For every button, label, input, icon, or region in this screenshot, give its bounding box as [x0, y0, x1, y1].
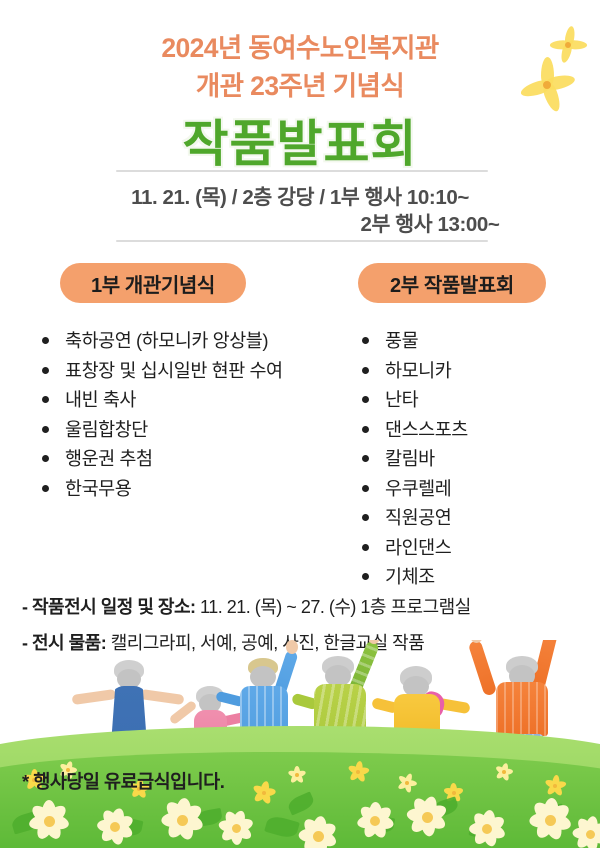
- list-item: 하모니카: [360, 356, 468, 386]
- bullet-icon: [362, 485, 369, 492]
- list-item: 내빈 축사: [40, 385, 283, 415]
- bullet-icon: [362, 573, 369, 580]
- list-item: 울림합창단: [40, 415, 283, 445]
- bullet-icon: [362, 544, 369, 551]
- list-item-label: 칼림바: [385, 448, 435, 469]
- list-item-label: 표창장 및 십시일반 현판 수여: [65, 360, 283, 381]
- list-item: 풍물: [360, 326, 468, 356]
- footnote-text: * 행사당일 유료급식입니다.: [22, 768, 224, 794]
- list-item: 댄스스포츠: [360, 415, 468, 445]
- bullet-icon: [362, 455, 369, 462]
- list-item-label: 풍물: [385, 330, 418, 351]
- list-item: 라인댄스: [360, 533, 468, 563]
- schedule-line-2: 2부 행사 13:00~: [0, 207, 600, 237]
- list-item: 우쿠렐레: [360, 474, 468, 504]
- bullet-icon: [42, 367, 49, 374]
- list-item: 난타: [360, 385, 468, 415]
- bullet-icon: [362, 367, 369, 374]
- list-item-label: 내빈 축사: [65, 389, 136, 410]
- list-item: 한국무용: [40, 474, 283, 504]
- program-list-part-2: 풍물 하모니카 난타 댄스스포츠 칼림바 우쿠렐레 직원공연 라인댄스 기체조: [360, 326, 468, 592]
- list-item: 축하공연 (하모니카 앙상블): [40, 326, 283, 356]
- list-item: 행운권 추첨: [40, 444, 283, 474]
- list-item-label: 라인댄스: [385, 537, 451, 558]
- list-item-label: 난타: [385, 389, 418, 410]
- list-item-label: 기체조: [385, 566, 435, 587]
- program-list-part-1: 축하공연 (하모니카 앙상블) 표창장 및 십시일반 현판 수여 내빈 축사 울…: [40, 326, 283, 503]
- bullet-icon: [42, 337, 49, 344]
- bullet-icon: [42, 396, 49, 403]
- exhibition-schedule-value: 11. 21. (목) ~ 27. (수) 1층 프로그램실: [200, 597, 471, 617]
- bullet-icon: [362, 396, 369, 403]
- poster-header-line-2: 개관 23주년 기념식: [0, 64, 600, 103]
- divider-top: [116, 170, 488, 172]
- list-item-label: 한국무용: [65, 478, 131, 499]
- exhibition-schedule-line: - 작품전시 일정 및 장소: 11. 21. (목) ~ 27. (수) 1층…: [22, 593, 471, 619]
- schedule-line-1: 11. 21. (목) / 2층 강당 / 1부 행사 10:10~: [0, 180, 600, 210]
- bullet-icon: [42, 426, 49, 433]
- bullet-icon: [362, 514, 369, 521]
- divider-bottom: [116, 240, 488, 242]
- list-item: 기체조: [360, 562, 468, 592]
- meadow-hill-front: [0, 752, 600, 848]
- event-poster: 2024년 동여수노인복지관 개관 23주년 기념식 작품발표회 11. 21.…: [0, 0, 600, 848]
- list-item-label: 울림합창단: [65, 419, 148, 440]
- list-item-label: 직원공연: [385, 507, 451, 528]
- list-item-label: 축하공연 (하모니카 앙상블): [65, 330, 268, 351]
- list-item: 칼림바: [360, 444, 468, 474]
- bullet-icon: [42, 455, 49, 462]
- list-item-label: 하모니카: [385, 360, 451, 381]
- bullet-icon: [42, 485, 49, 492]
- exhibition-schedule-label: - 작품전시 일정 및 장소:: [22, 597, 196, 617]
- page-title: 작품발표회: [0, 104, 600, 176]
- list-item-label: 우쿠렐레: [385, 478, 451, 499]
- section-badge-part-2: 2부 작품발표회: [358, 263, 546, 303]
- poster-header-line-1: 2024년 동여수노인복지관: [0, 26, 600, 65]
- elderly-people-illustration: [0, 640, 600, 848]
- list-item: 표창장 및 십시일반 현판 수여: [40, 356, 283, 386]
- bullet-icon: [362, 337, 369, 344]
- list-item-label: 행운권 추첨: [65, 448, 153, 469]
- list-item-label: 댄스스포츠: [385, 419, 468, 440]
- bullet-icon: [362, 426, 369, 433]
- list-item: 직원공연: [360, 503, 468, 533]
- section-badge-part-1: 1부 개관기념식: [60, 263, 246, 303]
